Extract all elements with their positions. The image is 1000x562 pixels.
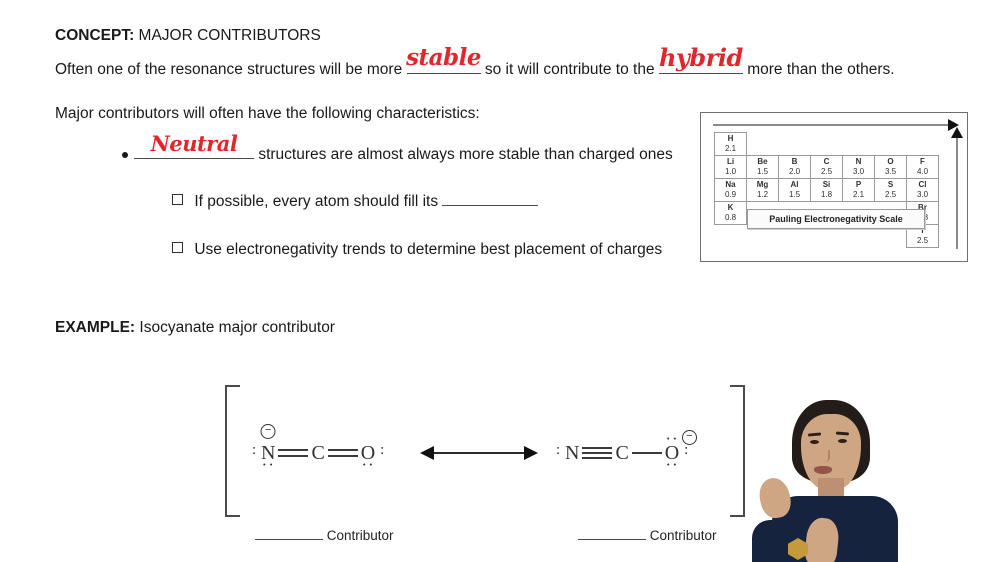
element-electronegativity-value: 1.5 [757, 168, 768, 176]
element-electronegativity-value: 0.9 [725, 191, 736, 199]
electronegativity-cell-empty [714, 224, 747, 248]
negative-charge-icon: − [682, 430, 697, 445]
element-electronegativity-value: 1.8 [821, 191, 832, 199]
electronegativity-cell-s: S2.5 [874, 178, 907, 202]
instructor-mouth [814, 466, 832, 474]
electronegativity-cell-n: N3.0 [842, 155, 875, 179]
element-symbol: P [856, 181, 861, 189]
lone-pair-icon: ·· [262, 456, 275, 473]
element-symbol: H [728, 135, 734, 143]
sub-item-octet: If possible, every atom should fill its [172, 192, 538, 211]
atom-label: C [615, 442, 628, 464]
lewis-structure-left: : − N ·· C O : ·· [261, 433, 375, 473]
sub-item-octet-text: If possible, every atom should fill its [194, 193, 438, 210]
element-electronegativity-value: 1.2 [757, 191, 768, 199]
electronegativity-cell-k: K0.8 [714, 201, 747, 225]
element-symbol: N [856, 158, 862, 166]
element-symbol: Na [725, 181, 735, 189]
lone-pair-icon: ·· [665, 430, 678, 447]
handwriting-neutral: Neutral [151, 131, 238, 157]
characteristics-intro: Major contributors will often have the f… [55, 104, 480, 123]
element-symbol: Si [823, 181, 831, 189]
instructor-video-overlay[interactable] [752, 392, 1000, 562]
checkbox-icon[interactable] [172, 242, 183, 253]
blank-octet[interactable] [442, 205, 538, 206]
element-electronegativity-value: 3.0 [853, 168, 864, 176]
atom-nitrogen: : N [565, 443, 579, 463]
example-heading: EXAMPLE: Isocyanate major contributor [55, 318, 335, 337]
sub-item-electronegativity: Use electronegativity trends to determin… [172, 240, 662, 259]
electronegativity-cell-b: B2.0 [778, 155, 811, 179]
element-symbol: Al [791, 181, 799, 189]
concept-title: MAJOR CONTRIBUTORS [139, 27, 321, 44]
right-contributor-label: Contributor [578, 528, 717, 543]
electronegativity-row: H2.1 [715, 133, 939, 156]
electronegativity-cell-al: Al1.5 [778, 178, 811, 202]
checkbox-icon[interactable] [172, 194, 183, 205]
electronegativity-grid: H2.1Li1.0Be1.5B2.0C2.5N3.0O3.5F4.0Na0.9M… [715, 133, 939, 248]
electronegativity-cell-na: Na0.9 [714, 178, 747, 202]
electronegativity-row: Li1.0Be1.5B2.0C2.5N3.0O3.5F4.0 [715, 156, 939, 179]
atom-carbon: C [311, 443, 324, 463]
lewis-structure-right: : N C ·· O : ·· − [565, 433, 679, 473]
electronegativity-caption: Pauling Electronegativity Scale [747, 209, 925, 229]
bond-double [328, 446, 358, 460]
atom-label: N [565, 442, 579, 464]
element-symbol: Cl [919, 181, 927, 189]
lone-pair-icon: ·· [361, 456, 374, 473]
sub-item-electronegativity-text: Use electronegativity trends to determin… [194, 241, 662, 258]
handwriting-stable: stable [406, 44, 481, 73]
electronegativity-cell-empty [842, 132, 875, 156]
electronegativity-figure: H2.1Li1.0Be1.5B2.0C2.5N3.0O3.5F4.0Na0.9M… [700, 112, 968, 262]
element-electronegativity-value: 3.0 [917, 191, 928, 199]
electronegativity-cell-mg: Mg1.2 [746, 178, 779, 202]
element-symbol: B [792, 158, 798, 166]
atom-nitrogen: : − N ·· [261, 443, 275, 463]
bond-single [632, 446, 662, 460]
atom-carbon: C [615, 443, 628, 463]
blank-neutral[interactable]: Neutral [134, 158, 254, 159]
increasing-right-arrow-icon [713, 124, 949, 126]
element-electronegativity-value: 2.1 [853, 191, 864, 199]
instructor-nose [818, 450, 830, 462]
electronegativity-cell-li: Li1.0 [714, 155, 747, 179]
element-electronegativity-value: 1.0 [725, 168, 736, 176]
sentence-part-1: Often one of the resonance structures wi… [55, 61, 402, 78]
element-electronegativity-value: 2.5 [885, 191, 896, 199]
element-symbol: Mg [757, 181, 769, 189]
lone-pair-icon: : [556, 443, 560, 458]
electronegativity-cell-c: C2.5 [810, 155, 843, 179]
blank-hybrid[interactable]: hybrid [659, 73, 743, 74]
element-electronegativity-value: 2.5 [917, 237, 928, 245]
negative-charge-icon: − [261, 424, 276, 439]
atom-oxygen: ·· O : ·· − [665, 443, 679, 463]
element-electronegativity-value: 2.1 [725, 145, 736, 153]
electronegativity-cell-f: F4.0 [906, 155, 939, 179]
electronegativity-cell-empty [874, 132, 907, 156]
element-electronegativity-value: 1.5 [789, 191, 800, 199]
electronegativity-cell-p: P2.1 [842, 178, 875, 202]
element-electronegativity-value: 0.8 [725, 214, 736, 222]
blank-stable[interactable]: stable [407, 73, 481, 74]
resonance-structures: : − N ·· C O : ·· : N C ·· O : [225, 385, 745, 525]
instructor-eye-left [810, 440, 819, 444]
element-electronegativity-value: 2.0 [789, 168, 800, 176]
electronegativity-figure-inner: H2.1Li1.0Be1.5B2.0C2.5N3.0O3.5F4.0Na0.9M… [707, 119, 963, 257]
right-contributor-text: Contributor [650, 528, 717, 543]
electronegativity-cell-si: Si1.8 [810, 178, 843, 202]
element-electronegativity-value: 3.5 [885, 168, 896, 176]
electronegativity-cell-empty [746, 132, 779, 156]
sentence-part-2: so it will contribute to the [485, 61, 655, 78]
bracket-right [730, 385, 745, 517]
bullet-marker [122, 152, 128, 158]
element-electronegativity-value: 2.5 [821, 168, 832, 176]
concept-sentence: Often one of the resonance structures wi… [55, 60, 895, 79]
element-symbol: K [728, 204, 734, 212]
bond-double [278, 446, 308, 460]
element-symbol: F [920, 158, 925, 166]
electronegativity-cell-be: Be1.5 [746, 155, 779, 179]
electronegativity-cell-h: H2.1 [714, 132, 747, 156]
electronegativity-cell-cl: Cl3.0 [906, 178, 939, 202]
element-symbol: O [887, 158, 893, 166]
element-electronegativity-value: 4.0 [917, 168, 928, 176]
concept-heading: CONCEPT: MAJOR CONTRIBUTORS [55, 26, 321, 45]
bullet-neutral-text: structures are almost always more stable… [258, 146, 672, 163]
handwriting-hybrid: hybrid [659, 43, 743, 73]
element-symbol: C [824, 158, 830, 166]
lone-pair-icon: : [684, 443, 688, 458]
atom-label: C [311, 442, 324, 464]
sentence-part-3: more than the others. [747, 61, 894, 78]
lone-pair-icon: : [252, 443, 256, 458]
lone-pair-icon: ·· [665, 456, 678, 473]
blank-left-contributor[interactable] [255, 539, 323, 540]
example-title: Isocyanate major contributor [139, 319, 335, 336]
resonance-double-arrow-icon [433, 452, 525, 454]
increasing-up-arrow-icon [956, 137, 958, 249]
concept-label: CONCEPT: [55, 27, 134, 44]
blank-right-contributor[interactable] [578, 539, 646, 540]
electronegativity-cell-empty [810, 132, 843, 156]
atom-oxygen: O : ·· [361, 443, 375, 463]
lone-pair-icon: : [380, 443, 384, 458]
element-symbol: Be [757, 158, 767, 166]
left-contributor-label: Contributor [255, 528, 394, 543]
example-label: EXAMPLE: [55, 319, 135, 336]
bracket-left [225, 385, 240, 517]
characteristic-bullet-neutral: Neutral structures are almost always mor… [134, 145, 673, 164]
electronegativity-cell-empty [906, 132, 939, 156]
element-symbol: S [888, 181, 893, 189]
electronegativity-cell-o: O3.5 [874, 155, 907, 179]
element-symbol: Li [727, 158, 734, 166]
left-contributor-text: Contributor [327, 528, 394, 543]
bond-triple [582, 446, 612, 460]
instructor-eye-right [838, 439, 847, 443]
electronegativity-cell-empty [778, 132, 811, 156]
electronegativity-row: Na0.9Mg1.2Al1.5Si1.8P2.1S2.5Cl3.0 [715, 179, 939, 202]
